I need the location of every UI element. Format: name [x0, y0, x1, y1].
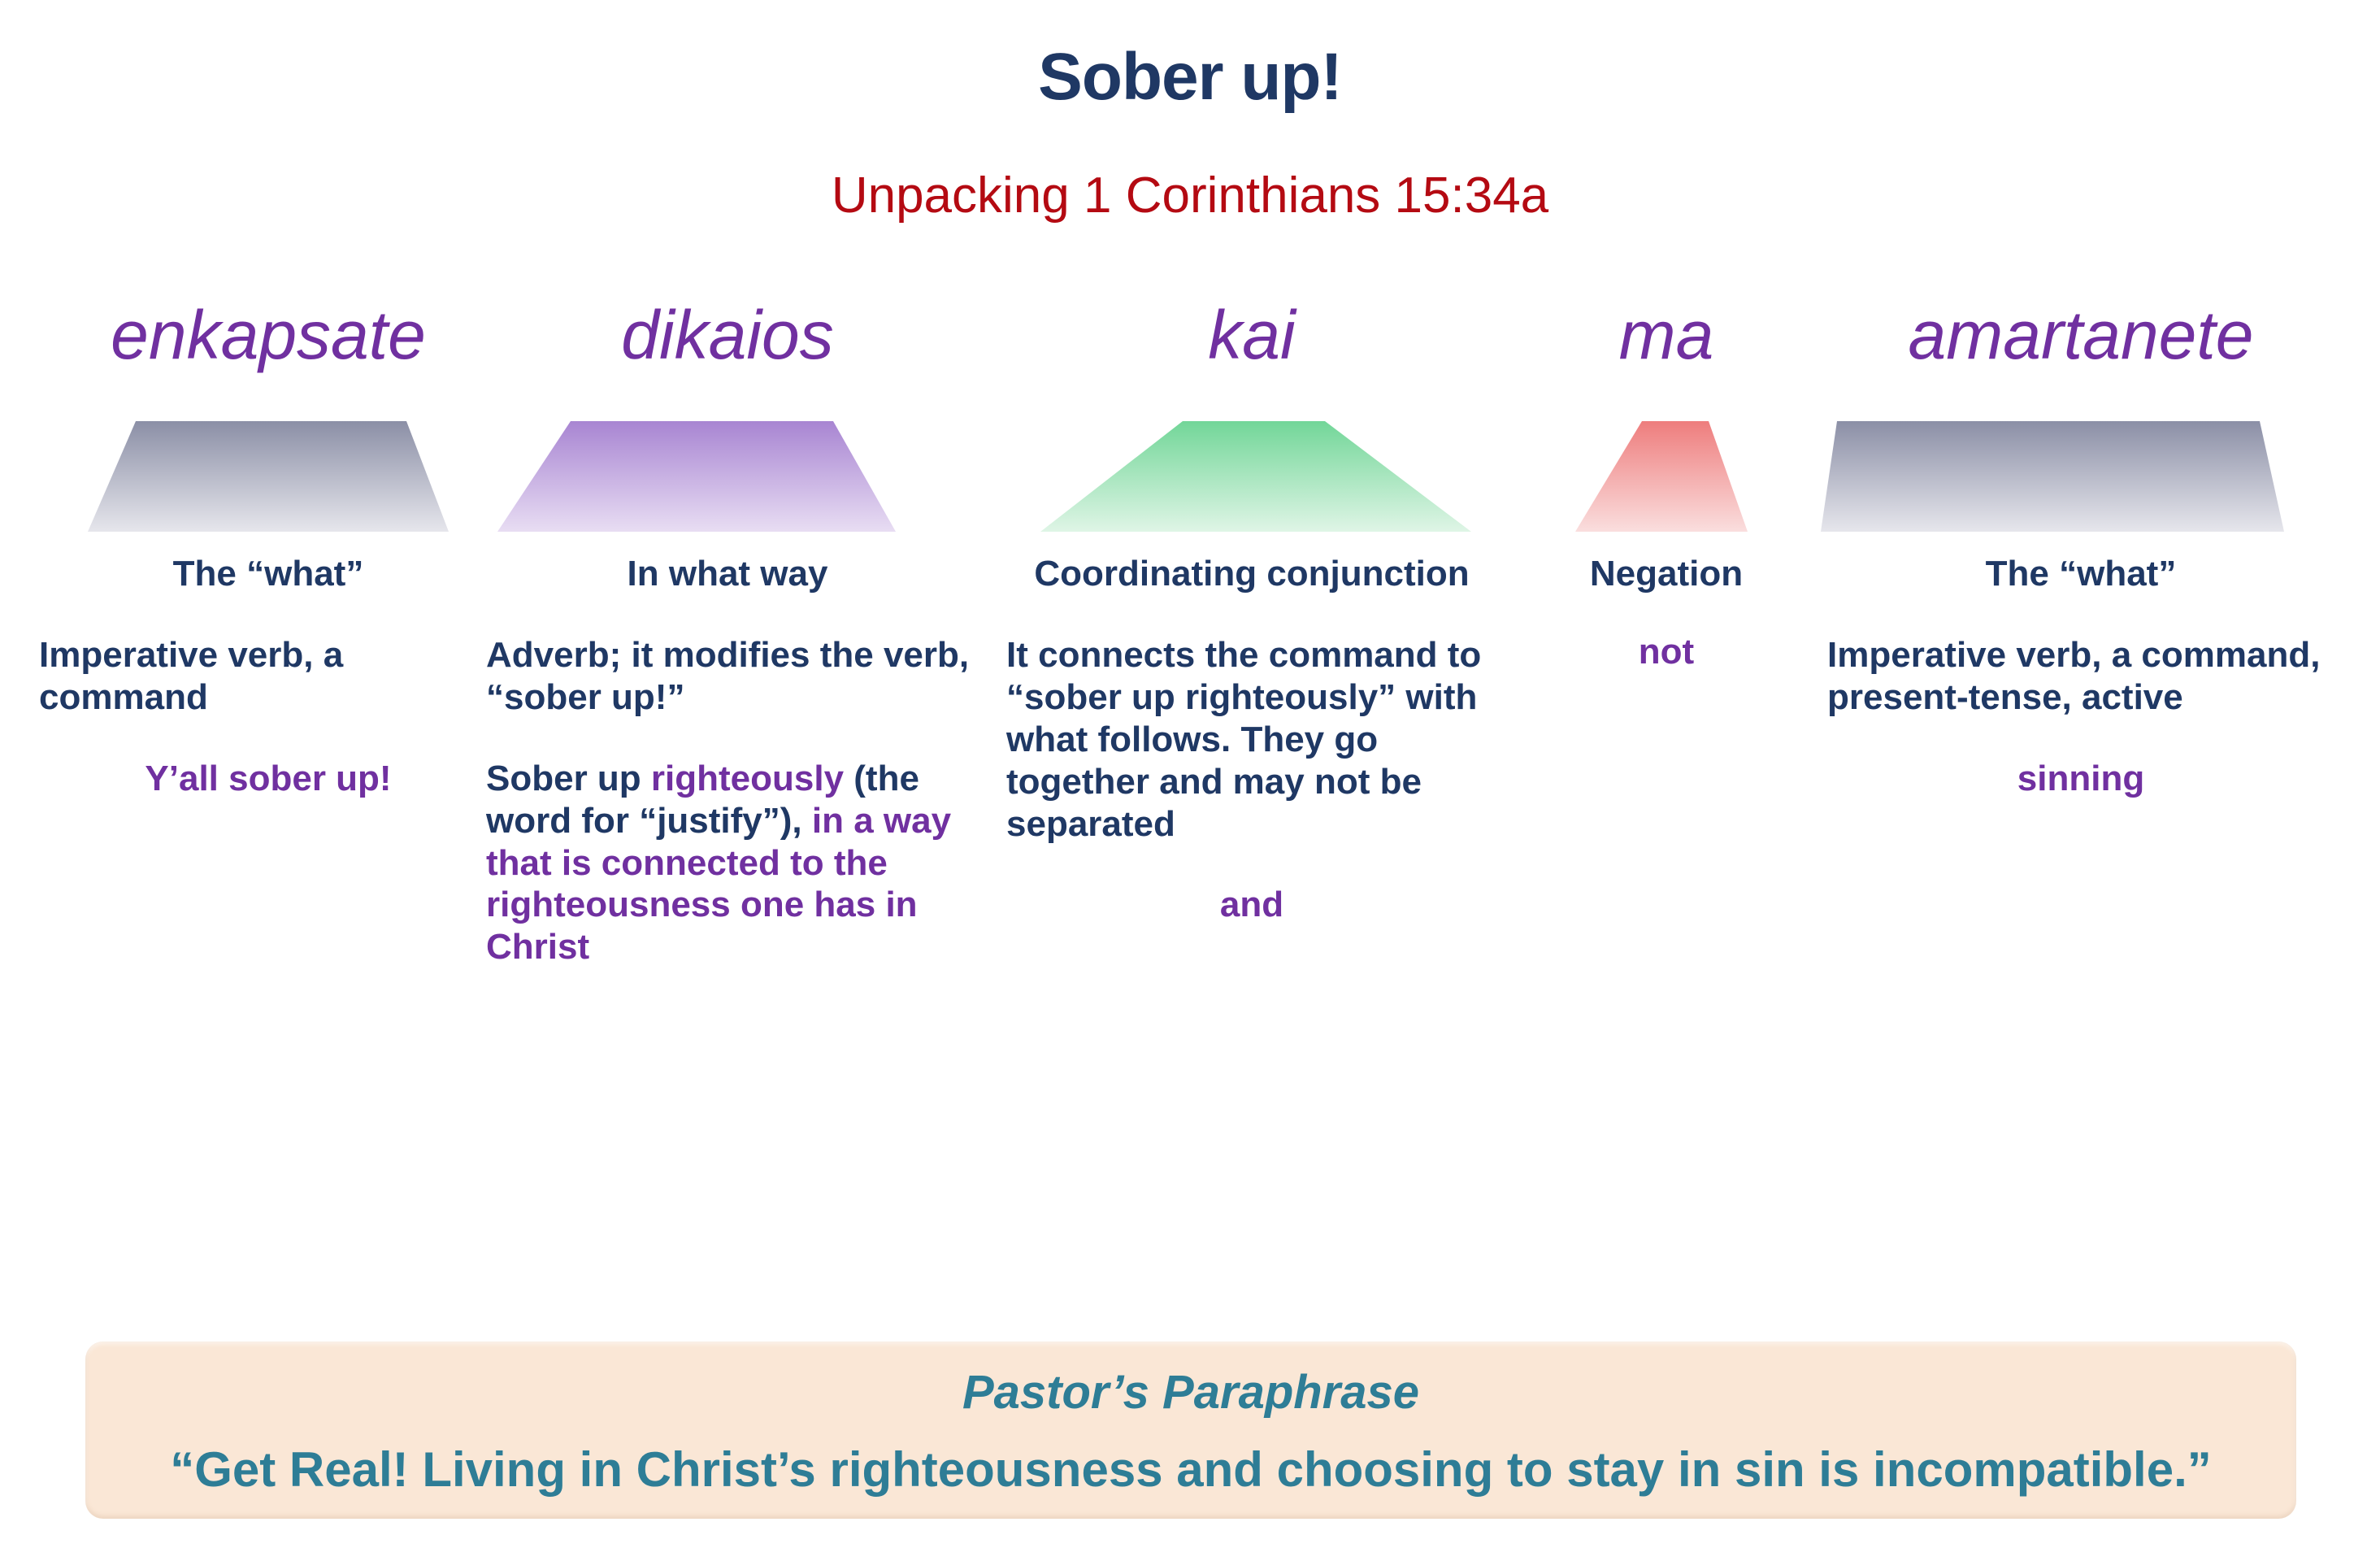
greek-word-label: enkapsate	[33, 301, 504, 369]
column-heading: Negation	[1528, 553, 1805, 595]
column-body: The “what” Imperative verb, a command Y’…	[33, 553, 504, 800]
column-description: Imperative verb, a command, present-tens…	[1821, 634, 2341, 719]
trapezoid-shape-purple	[480, 421, 975, 532]
paraphrase-text: “Get Real! Living in Christ’s righteousn…	[85, 1446, 2296, 1494]
column-heading: The “what”	[33, 553, 504, 595]
trapezoid-shape-green	[1000, 421, 1504, 532]
greek-word-label: ma	[1528, 301, 1805, 369]
column-body: The “what” Imperative verb, a command, p…	[1821, 553, 2341, 800]
column-gloss: Y’all sober up!	[33, 758, 504, 800]
greek-word-label: kai	[1000, 301, 1504, 369]
pastors-paraphrase-box: Pastor’s Paraphrase “Get Real! Living in…	[85, 1341, 2296, 1519]
greek-word-label: dikaios	[480, 301, 975, 369]
column-gloss: sinning	[1821, 758, 2341, 800]
page-title: Sober up!	[0, 39, 2380, 115]
column-heading: The “what”	[1821, 553, 2341, 595]
column-body: Coordinating conjunction It connects the…	[1000, 553, 1504, 926]
gloss-part-1: Sober up	[486, 759, 651, 798]
column-body: Negation not	[1528, 553, 1805, 673]
trapezoid-shape-gray	[33, 421, 504, 532]
paraphrase-label: Pastor’s Paraphrase	[85, 1369, 2296, 1416]
gloss-part-2: righteously	[651, 759, 853, 798]
column-body: In what way Adverb; it modifies the verb…	[480, 553, 975, 968]
column-heading: In what way	[480, 553, 975, 595]
column-gloss-mixed: Sober up righteously (the word for “just…	[480, 758, 975, 969]
column-gloss: and	[1000, 884, 1504, 926]
page-subtitle: Unpacking 1 Corinthians 15:34a	[0, 167, 2380, 224]
word-breakdown-columns: enkapsate The “what” Imperative verb, a …	[0, 301, 2380, 1276]
greek-word-label: amartanete	[1821, 301, 2341, 369]
trapezoid-shape-red	[1528, 421, 1805, 532]
column-description: Adverb; it modifies the verb, “sober up!…	[480, 634, 975, 719]
trapezoid-shape-gray	[1821, 421, 2341, 532]
column-description: Imperative verb, a command	[33, 634, 504, 719]
column-gloss: not	[1528, 631, 1805, 673]
column-heading: Coordinating conjunction	[1000, 553, 1504, 595]
column-description: It connects the command to “sober up rig…	[1000, 634, 1504, 846]
